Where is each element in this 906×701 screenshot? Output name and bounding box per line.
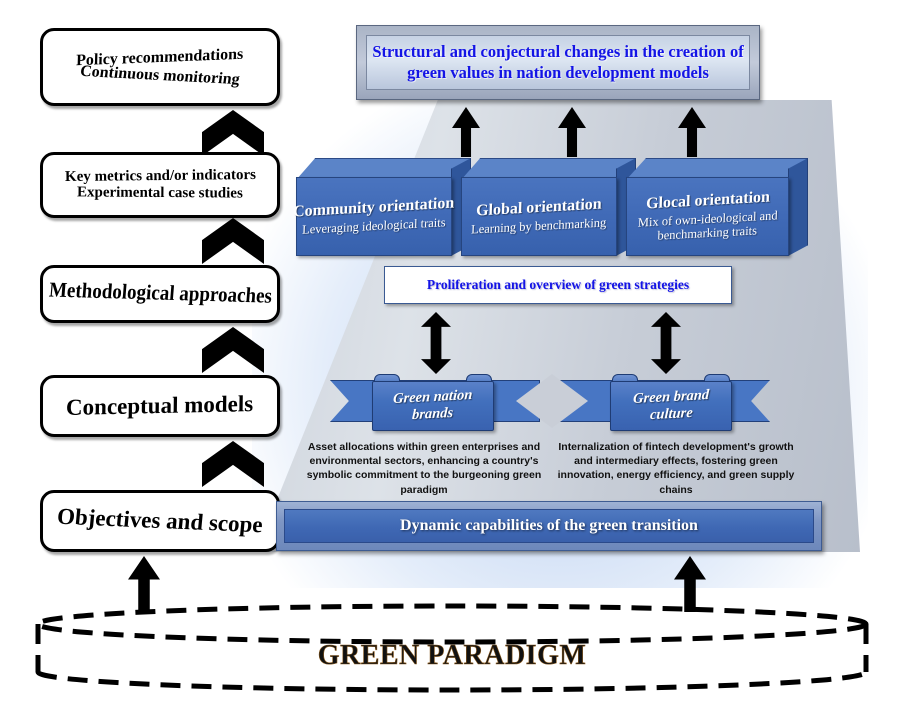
chevron-up-icon-1 <box>202 110 264 156</box>
dynamic-capabilities-inner: Dynamic capabilities of the green transi… <box>284 509 814 543</box>
caption-green-nation-brands: Asset allocations within green enterpris… <box>300 440 548 497</box>
dynamic-capabilities-bar[interactable]: Dynamic capabilities of the green transi… <box>276 501 822 551</box>
orientation-cube-glocal[interactable]: Glocal orientation Mix of own-ideologica… <box>626 158 808 256</box>
dynamic-capabilities-label: Dynamic capabilities of the green transi… <box>400 517 698 535</box>
foundation-label-wrap: GREEN PARADIGM <box>28 640 876 672</box>
outcome-banner-inner: Structural and conjectural changes in th… <box>366 35 750 90</box>
proliferation-box[interactable]: Proliferation and overview of green stra… <box>384 266 732 304</box>
cube-front-face: Glocal orientation Mix of own-ideologica… <box>626 177 789 256</box>
outcome-banner-line1: Structural and conjectural changes in th… <box>372 42 743 61</box>
sidebar-item-metrics[interactable]: Key metrics and/or indicators Experiment… <box>40 152 280 218</box>
sidebar-item-objectives-line1: Objectives and scope <box>56 504 264 539</box>
outcome-banner: Structural and conjectural changes in th… <box>356 25 760 100</box>
cube-front-face: Community orientation Leveraging ideolog… <box>296 177 452 256</box>
chevron-up-icon-4 <box>202 441 264 487</box>
ribbon-label-green-brand-culture-line1: Green brand <box>633 387 710 408</box>
sidebar-item-policy-line2: Continuous monitoring <box>79 63 241 90</box>
chevron-up-icon-2 <box>202 218 264 264</box>
ribbon-plate-green-brand-culture[interactable]: Green brand culture <box>610 381 732 431</box>
foundation-label: GREEN PARADIGM <box>318 640 587 671</box>
ribbon-label-green-nation-brands-line2: brands <box>412 405 454 425</box>
orientation-cube-community[interactable]: Community orientation Leveraging ideolog… <box>296 158 471 256</box>
ribbon-label-green-brand-culture-line2: culture <box>649 405 693 425</box>
caption-green-nation-brands-text: Asset allocations within green enterpris… <box>307 441 542 496</box>
orientation-subtitle-glocal: Mix of own-ideological and benchmarking … <box>627 208 789 245</box>
sidebar-item-methods[interactable]: Methodological approaches <box>40 265 280 323</box>
outcome-banner-line2: green values in nation development model… <box>407 63 709 82</box>
chevron-up-icon-3 <box>202 327 264 373</box>
proliferation-label: Proliferation and overview of green stra… <box>427 277 689 293</box>
sidebar-item-objectives[interactable]: Objectives and scope <box>40 490 280 552</box>
orientation-cube-global[interactable]: Global orientation Learning by benchmark… <box>461 158 636 256</box>
caption-green-brand-culture-text: Internalization of fintech development's… <box>558 441 795 496</box>
cube-side-face <box>788 158 808 256</box>
sidebar-item-metrics-line1: Key metrics and/or indicators <box>64 167 255 186</box>
ribbon-label-green-nation-brands-line1: Green nation <box>393 386 473 408</box>
sidebar-item-models[interactable]: Conceptual models <box>40 375 280 437</box>
cube-front-face: Global orientation Learning by benchmark… <box>461 177 617 256</box>
ribbon-plate-green-nation-brands[interactable]: Green nation brands <box>372 381 494 431</box>
caption-green-brand-culture: Internalization of fintech development's… <box>550 440 802 497</box>
foundation-cylinder[interactable]: GREEN PARADIGM <box>28 602 876 694</box>
diagram-canvas: Policy recommendations Continuous monito… <box>0 0 906 701</box>
sidebar-item-metrics-line2: Experimental case studies <box>77 184 243 202</box>
sidebar-item-models-line1: Conceptual models <box>66 391 254 421</box>
sidebar-item-methods-line1: Methodological approaches <box>48 279 273 310</box>
sidebar-item-policy[interactable]: Policy recommendations Continuous monito… <box>40 28 280 106</box>
